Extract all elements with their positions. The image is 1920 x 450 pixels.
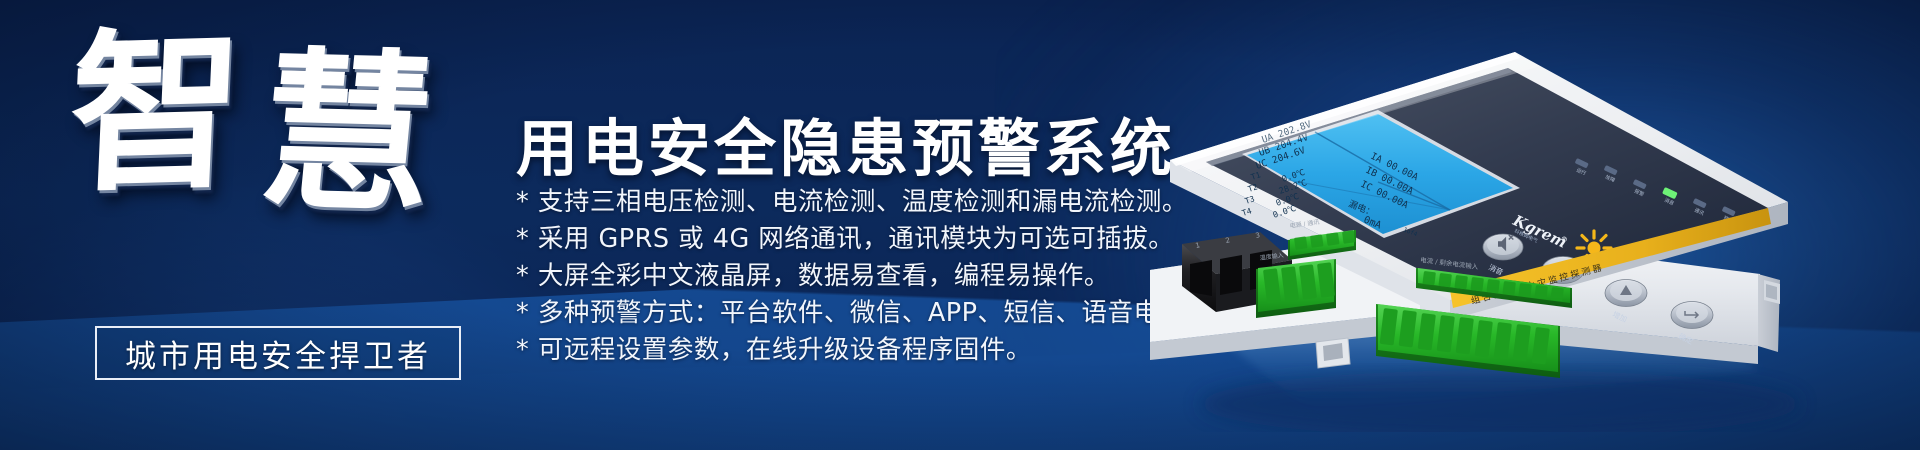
feature-list: * 支持三相电压检测、电流检测、温度检测和漏电流检测。 * 采用 GPRS 或 … bbox=[516, 184, 1336, 369]
list-item: * 多种预警方式：平台软件、微信、APP、短信、语音电话等等。 bbox=[516, 295, 1336, 332]
calligraphy-wordmark: 智慧 bbox=[62, 21, 434, 300]
promo-banner: 智慧 城市用电安全捍卫者 用电安全隐患预警系统 * 支持三相电压检测、电流检测、… bbox=[0, 0, 1920, 450]
calligraphy-char-zhi: 智 bbox=[66, 8, 253, 216]
list-item: * 支持三相电压检测、电流检测、温度检测和漏电流检测。 bbox=[516, 184, 1336, 221]
list-item: * 可远程设置参数，在线升级设备程序固件。 bbox=[516, 332, 1336, 369]
list-item: * 采用 GPRS 或 4G 网络通讯，通讯模块为可选可插拔。 bbox=[516, 221, 1336, 258]
slogan-box: 城市用电安全捍卫者 bbox=[95, 326, 461, 380]
calligraphy-char-hui: 慧 bbox=[253, 47, 447, 220]
page-title: 用电安全隐患预警系统 bbox=[516, 98, 1176, 188]
list-item: * 大屏全彩中文液晶屏，数据易查看，编程易操作。 bbox=[516, 258, 1336, 295]
slogan-text: 城市用电安全捍卫者 bbox=[125, 331, 431, 376]
